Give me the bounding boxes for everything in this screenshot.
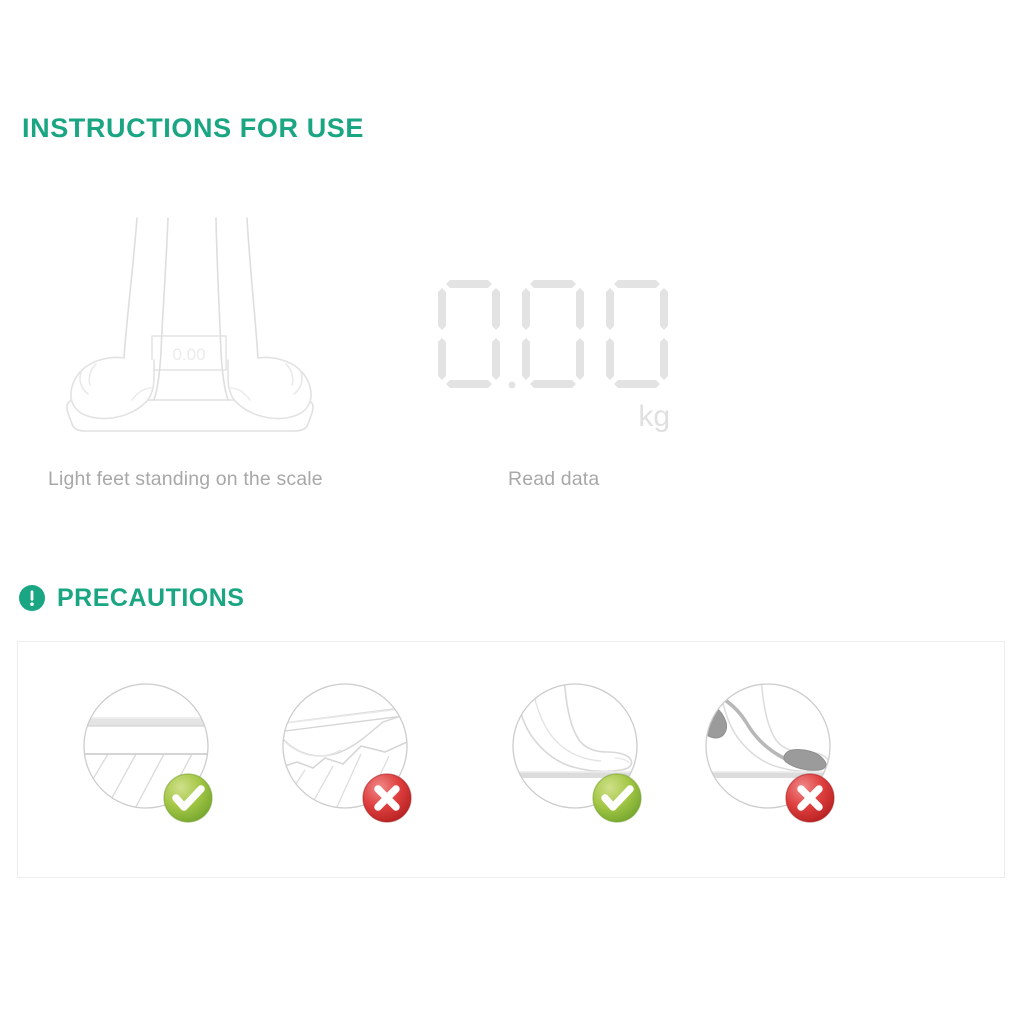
page-title: INSTRUCTIONS FOR USE xyxy=(22,113,364,144)
red-cross-badge xyxy=(363,774,411,822)
red-cross-badge xyxy=(786,774,834,822)
scale-on-hard-flat-floor-icon xyxy=(62,666,238,842)
lcd-unit-label: kg xyxy=(638,400,670,433)
exclamation-circle-icon xyxy=(18,584,46,612)
bare-foot-on-scale-icon xyxy=(491,666,667,842)
instruction-steps: 0.00 Light feet standing on the scale xyxy=(0,210,1024,510)
instruction-step-2-caption: Read data xyxy=(508,468,599,491)
lcd-display-illustration: kg xyxy=(430,210,720,450)
legs-standing-on-scale-illustration: 0.00 xyxy=(40,210,360,450)
scale-display-value: 0.00 xyxy=(172,345,205,364)
precautions-icon-row xyxy=(18,642,1004,877)
green-check-badge xyxy=(164,774,212,822)
scale-on-uneven-soft-surface-icon xyxy=(261,666,437,842)
instruction-step-1: 0.00 Light feet standing on the scale xyxy=(40,210,360,450)
foot-wearing-sock-on-scale-icon xyxy=(684,666,860,842)
instruction-step-2: kg Read data xyxy=(430,210,720,450)
green-check-badge xyxy=(593,774,641,822)
precautions-header: PRECAUTIONS xyxy=(18,583,244,612)
precautions-title: PRECAUTIONS xyxy=(57,584,244,613)
instruction-step-1-caption: Light feet standing on the scale xyxy=(48,468,323,491)
precautions-panel xyxy=(17,641,1005,878)
